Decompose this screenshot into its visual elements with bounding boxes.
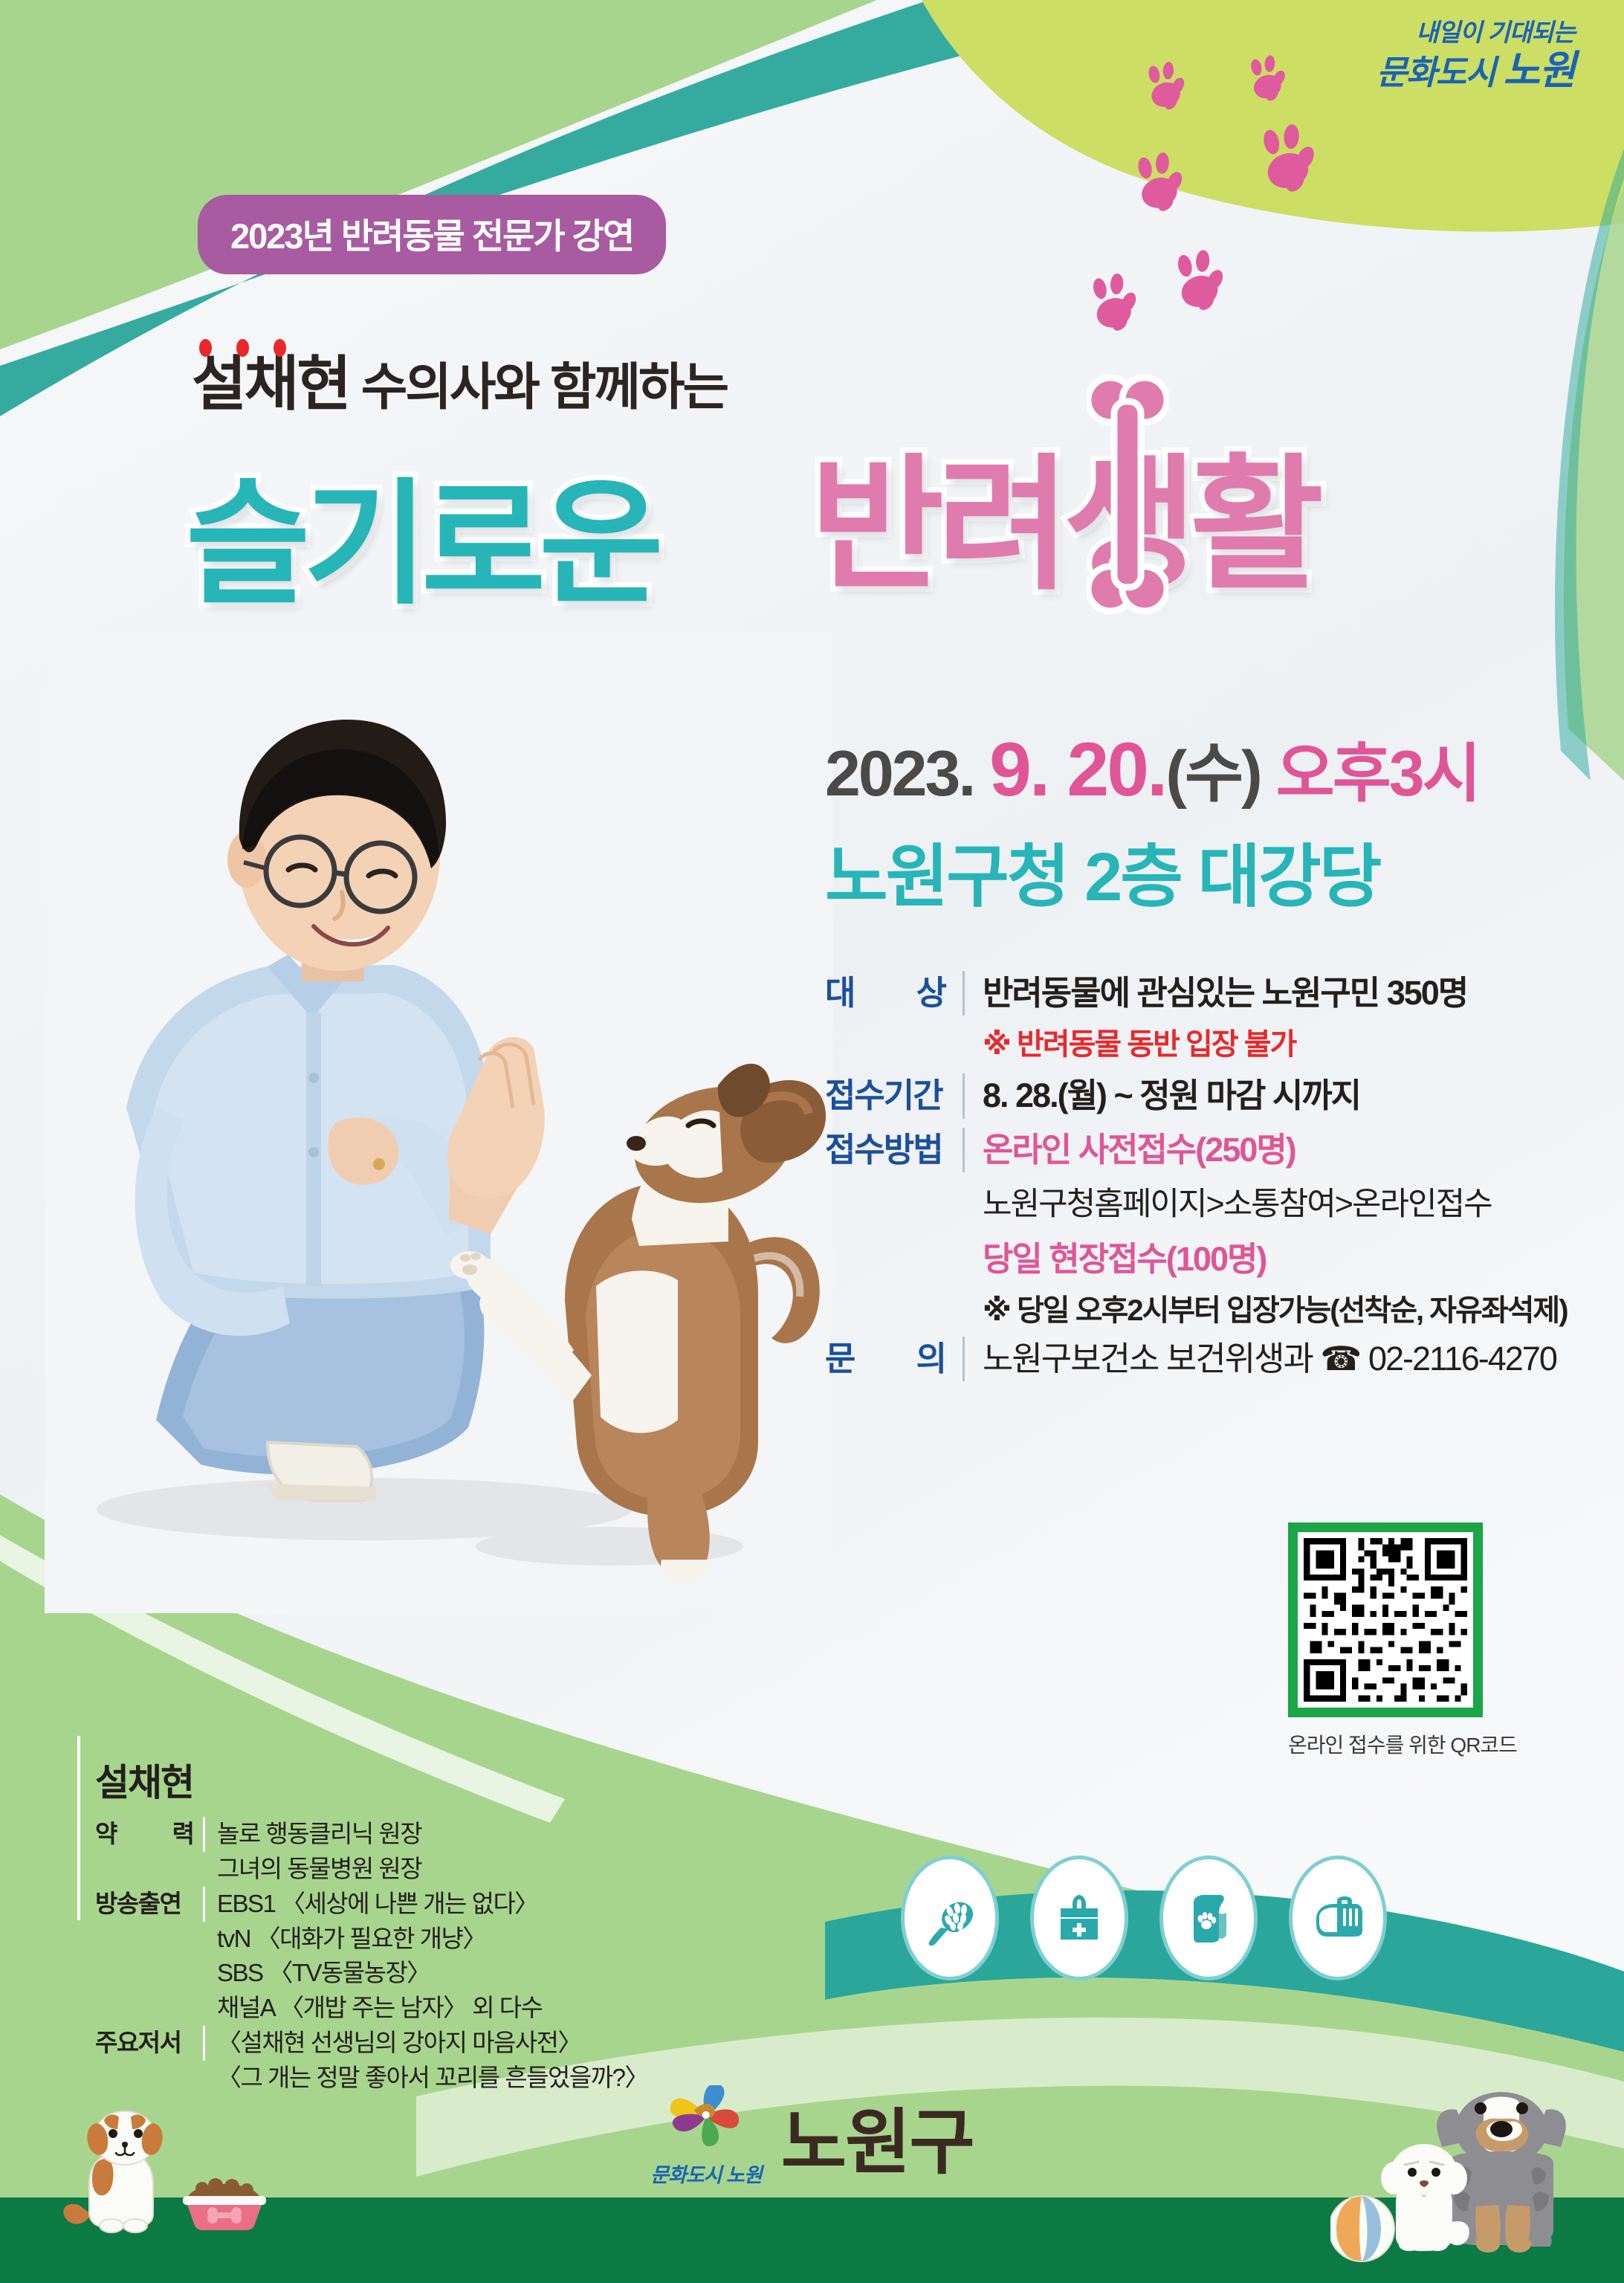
info-row-method: 접수방법 온라인 사전접수(250명) xyxy=(825,1128,1576,1172)
info-label-contact: 문 의 xyxy=(825,1337,965,1381)
district-name: 노원구 xyxy=(781,2085,974,2188)
title-teal: 슬기로운 xyxy=(186,435,657,630)
pet-icon-row xyxy=(901,1856,1387,1980)
first-aid-kit-icon xyxy=(1030,1856,1128,1980)
info-value-method-online: 온라인 사전접수(250명) xyxy=(965,1128,1295,1172)
qr-caption: 온라인 접수를 위한 QR코드 xyxy=(1288,1729,1517,1759)
slogan-line-1: 내일이 기대되는 xyxy=(1330,19,1575,47)
pet-carrier-icon xyxy=(1289,1856,1387,1980)
info-note-entry-time: ※ 당일 오후2시부터 입장가능(선착순, 자유좌석제) xyxy=(825,1286,1576,1329)
bio-value-career: 놀로 행동클리닉 원장 그녀의 동물병원 원장 xyxy=(205,1817,421,1887)
info-row-period: 접수기간 8. 28.(월) ~ 정원 마감 시까지 xyxy=(825,1073,1576,1118)
event-time: 오후3시 xyxy=(1276,738,1479,810)
info-label-target: 대 상 xyxy=(825,971,965,1015)
info-label-period: 접수기간 xyxy=(825,1073,965,1118)
event-datetime: 2023. 9. 20.(수) 오후3시 xyxy=(825,721,1479,814)
bio-broadcast-line-4: 채널A 〈개밥 주는 남자〉 외 다수 xyxy=(217,1991,543,2026)
bio-career-line-2: 그녀의 동물병원 원장 xyxy=(217,1852,421,1887)
online-registration-heading: 온라인 사전접수(250명) xyxy=(983,1131,1295,1169)
qr-code-block[interactable]: 온라인 접수를 위한 QR코드 xyxy=(1288,1522,1517,1759)
nowon-emblem-text: 문화도시 노원 xyxy=(650,2159,762,2188)
name-emphasis-dots xyxy=(199,339,286,357)
bio-label-career: 약 력 xyxy=(95,1817,205,1852)
slogan-city: 노원 xyxy=(1504,48,1575,93)
dogs-with-ball-illustration xyxy=(1330,2087,1624,2283)
slogan-line-2: 문화도시 노원 xyxy=(1330,48,1575,93)
dot-2 xyxy=(236,339,249,357)
footer-district-logo: 문화도시 노원 노원구 xyxy=(650,2085,974,2188)
title-pink: 반려생활 xyxy=(810,407,1316,618)
event-info-block: 대 상 반려동물에 관심있는 노원구민 350명 ※ 반려동물 동반 입장 불가… xyxy=(825,971,1576,1384)
speaker-bio: 설채현 약 력 놀로 행동클리닉 원장 그녀의 동물병원 원장 방송출연 EBS… xyxy=(95,1753,712,2096)
event-venue: 노원구청 2층 대강당 xyxy=(825,821,1379,920)
info-value-target: 반려동물에 관심있는 노원구민 350명 xyxy=(965,971,1467,1015)
city-slogan: 내일이 기대되는 문화도시 노원 xyxy=(1330,19,1575,93)
bio-book-line-2: 〈그 개는 정말 좋아서 꼬리를 흔들었을까?〉 xyxy=(217,2061,648,2096)
onsite-registration-heading: 당일 현장접수(100명) xyxy=(825,1232,1576,1280)
bio-row-career: 약 력 놀로 행동클리닉 원장 그녀의 동물병원 원장 xyxy=(95,1817,712,1887)
info-row-contact: 문 의 노원구보건소 보건위생과 ☎ 02-2116-4270 xyxy=(825,1337,1576,1381)
bio-name: 설채현 xyxy=(95,1753,712,1806)
info-row-target: 대 상 반려동물에 관심있는 노원구민 350명 xyxy=(825,971,1576,1015)
bio-value-books: 〈설채현 선생님의 강아지 마음사전〉 〈그 개는 정말 좋아서 꼬리를 흔들었… xyxy=(205,2026,648,2096)
info-value-period: 8. 28.(월) ~ 정원 마감 시까지 xyxy=(965,1073,1360,1118)
bio-row-broadcast: 방송출연 EBS1 〈세상에 나쁜 개는 없다〉 tvN 〈대화가 필요한 개냥… xyxy=(95,1887,712,2026)
qr-code-image[interactable] xyxy=(1288,1522,1483,1717)
bio-row-books: 주요저서 〈설채현 선생님의 강아지 마음사전〉 〈그 개는 정말 좋아서 꼬리… xyxy=(95,2026,712,2096)
sub-headline-text: 수의사와 함께하는 xyxy=(349,359,727,416)
bio-accent-line xyxy=(77,1736,80,1920)
info-note-no-pets: ※ 반려동물 동반 입장 불가 xyxy=(825,1020,1576,1063)
speaker-name: 설채현 xyxy=(192,351,349,417)
dot-1 xyxy=(199,339,212,357)
bio-broadcast-line-2: tvN 〈대화가 필요한 개냥〉 xyxy=(217,1922,543,1957)
info-label-method: 접수방법 xyxy=(825,1128,965,1172)
bio-career-line-1: 놀로 행동클리닉 원장 xyxy=(217,1817,421,1852)
bio-book-line-1: 〈설채현 선생님의 강아지 마음사전〉 xyxy=(217,2026,648,2061)
bio-value-broadcast: EBS1 〈세상에 나쁜 개는 없다〉 tvN 〈대화가 필요한 개냥〉 SBS… xyxy=(205,1887,543,2026)
speaker-photo xyxy=(45,632,832,1613)
title-pink-first: 반려 xyxy=(810,444,1064,607)
online-registration-path: 노원구청홈페이지>소통참여>온라인접수 xyxy=(825,1178,1576,1224)
bio-label-broadcast: 방송출연 xyxy=(95,1887,205,1922)
event-month-day: 9. 20. xyxy=(989,727,1165,812)
info-value-contact: 노원구보건소 보건위생과 ☎ 02-2116-4270 xyxy=(965,1337,1556,1381)
event-weekday: (수) xyxy=(1165,738,1260,810)
bio-label-books: 주요저서 xyxy=(95,2026,205,2061)
nowon-emblem: 문화도시 노원 xyxy=(650,2085,762,2188)
bio-broadcast-line-3: SBS 〈TV동물농장〉 xyxy=(217,1956,543,1991)
puppy-with-bowl-illustration xyxy=(30,2110,297,2258)
pet-food-bag-icon xyxy=(1159,1856,1258,1980)
dot-3 xyxy=(274,339,286,357)
pet-brush-icon xyxy=(901,1856,999,1980)
poster-root: 내일이 기대되는 문화도시 노원 2023년 반려동물 전문가 강연 설채현 수… xyxy=(0,0,1624,2283)
bio-broadcast-line-1: EBS1 〈세상에 나쁜 개는 없다〉 xyxy=(217,1887,543,1922)
bone-icon xyxy=(1087,372,1168,621)
event-year: 2023. xyxy=(825,738,974,810)
pinwheel-icon xyxy=(666,2085,746,2154)
event-category-badge: 2023년 반려동물 전문가 강연 xyxy=(198,195,666,274)
